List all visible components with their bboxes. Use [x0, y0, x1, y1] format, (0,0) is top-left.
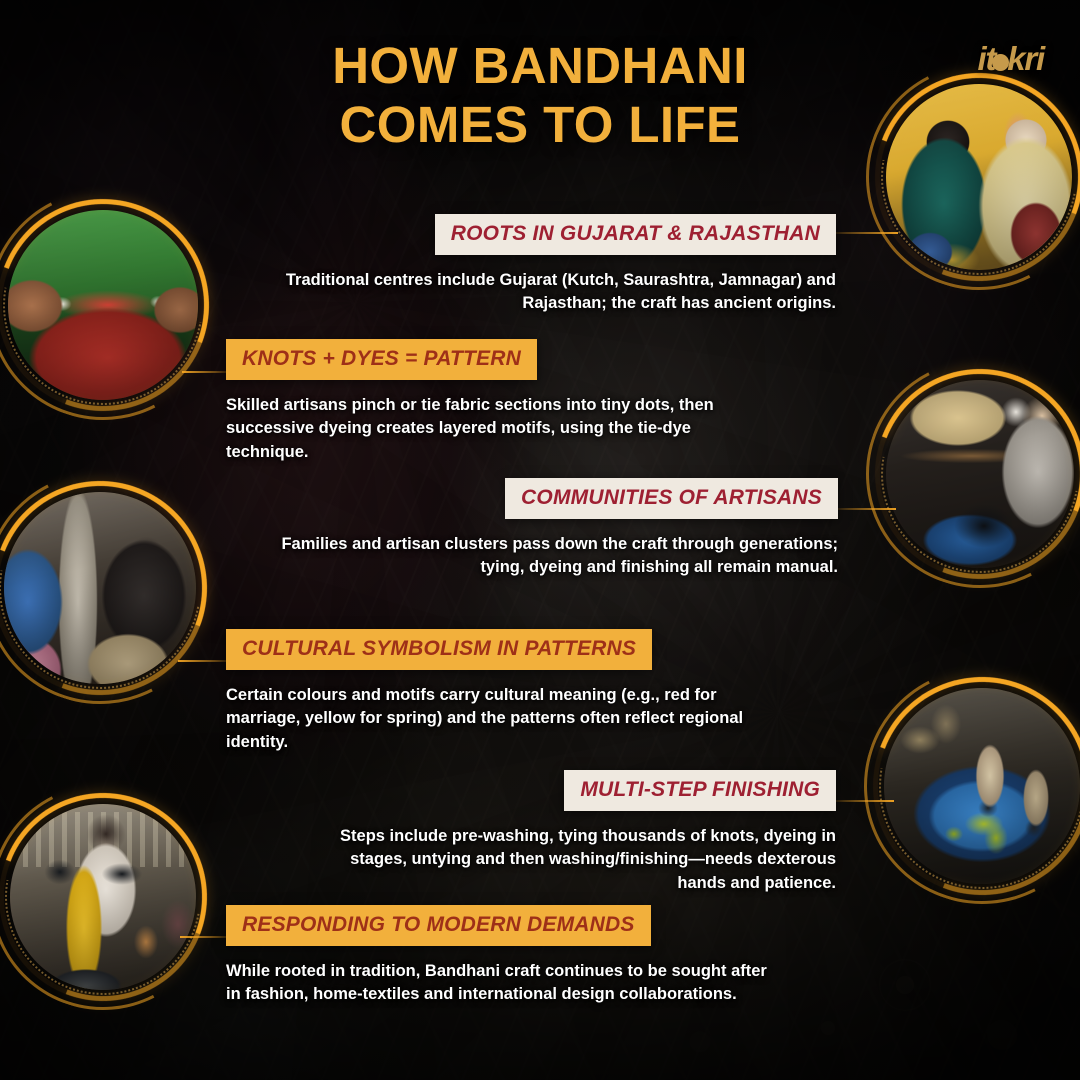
page-title: HOW BANDHANI COMES TO LIFE	[0, 36, 1080, 154]
logo-text-post: kri	[1007, 40, 1044, 77]
title-line-2: COMES TO LIFE	[0, 95, 1080, 154]
section-communities-body: Families and artisan clusters pass down …	[240, 533, 838, 580]
infographic-poster: HOW BANDHANI COMES TO LIFE itkri	[0, 0, 1080, 1080]
section-communities-heading: COMMUNITIES OF ARTISANS	[505, 478, 838, 519]
connector-line-communities	[838, 508, 896, 510]
section-modern: RESPONDING TO MODERN DEMANDS While roote…	[226, 905, 786, 1007]
section-roots-heading: ROOTS IN GUJARAT & RAJASTHAN	[435, 214, 836, 255]
photo-women-seated-image	[4, 492, 196, 684]
section-finishing-body: Steps include pre-washing, tying thousan…	[300, 825, 836, 895]
photo-hands-red-fabric-image	[8, 210, 198, 400]
photo-dyer-blue-tub	[886, 380, 1074, 568]
photo-indigo-vat-image	[884, 688, 1080, 884]
section-roots-body: Traditional centres include Gujarat (Kut…	[280, 269, 836, 316]
section-symbolism-body: Certain colours and motifs carry cultura…	[226, 684, 782, 754]
section-symbolism: CULTURAL SYMBOLISM IN PATTERNS Certain c…	[226, 629, 782, 754]
section-communities: COMMUNITIES OF ARTISANS Families and art…	[240, 478, 838, 580]
connector-line-symbolism	[178, 660, 230, 662]
section-finishing: MULTI-STEP FINISHING Steps include pre-w…	[300, 770, 836, 895]
photo-dyer-yellow-skein	[10, 804, 196, 990]
section-modern-heading: RESPONDING TO MODERN DEMANDS	[226, 905, 651, 946]
connector-line-roots	[836, 232, 898, 234]
photo-indigo-vat	[884, 688, 1080, 884]
photo-hands-red-fabric	[8, 210, 198, 400]
photo-women-seated	[4, 492, 196, 684]
connector-line-modern	[180, 936, 230, 938]
itokri-logo[interactable]: itkri	[977, 40, 1044, 78]
photo-dyer-yellow-skein-image	[10, 804, 196, 990]
title-line-1: HOW BANDHANI	[0, 36, 1080, 95]
section-knots: KNOTS + DYES = PATTERN Skilled artisans …	[226, 339, 776, 464]
section-finishing-heading: MULTI-STEP FINISHING	[564, 770, 836, 811]
section-modern-body: While rooted in tradition, Bandhani craf…	[226, 960, 786, 1007]
connector-line-finishing	[836, 800, 894, 802]
photo-dyer-blue-tub-image	[886, 380, 1074, 568]
section-knots-body: Skilled artisans pinch or tie fabric sec…	[226, 394, 776, 464]
connector-line-knots	[182, 371, 230, 373]
section-symbolism-heading: CULTURAL SYMBOLISM IN PATTERNS	[226, 629, 652, 670]
section-roots: ROOTS IN GUJARAT & RAJASTHAN Traditional…	[280, 214, 836, 316]
section-knots-heading: KNOTS + DYES = PATTERN	[226, 339, 537, 380]
